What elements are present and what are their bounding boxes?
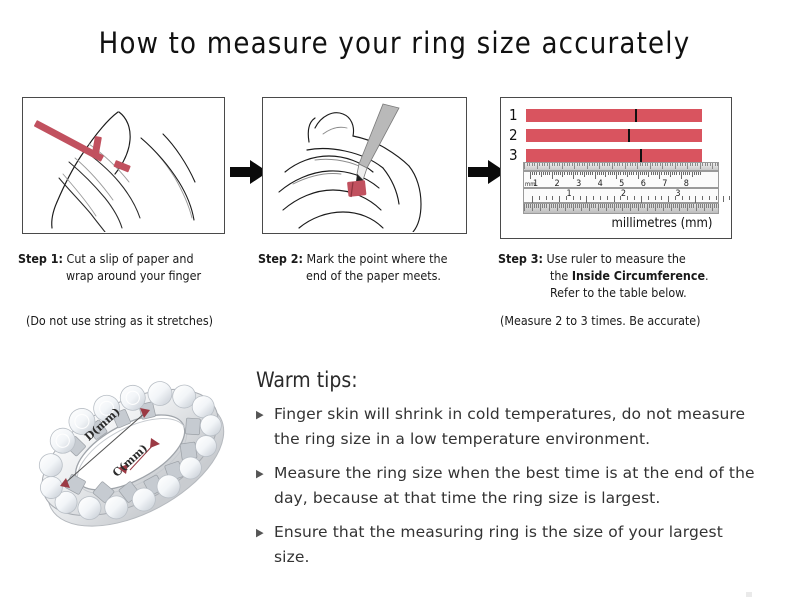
hand-with-paper-strip-drawing: [23, 98, 223, 232]
ruler-unit-caption: millimetres (mm): [597, 216, 727, 231]
bullet-triangle-icon: ▶: [256, 402, 274, 427]
step-1-line-2: wrap around your finger: [18, 267, 258, 284]
warm-tip-text: Ensure that the measuring ring is the si…: [274, 520, 756, 570]
step-2-caption: Step 2: Mark the point where the end of …: [258, 250, 498, 284]
list-item: ▶ Ensure that the measuring ring is the …: [256, 520, 756, 570]
step-1-note: (Do not use string as it stretches): [26, 313, 213, 328]
step-3-line-2-prefix: the: [550, 268, 572, 283]
list-item: ▶ Measure the ring size when the best ti…: [256, 461, 756, 511]
strip-number: 2: [509, 126, 526, 144]
step-3-line-3: Refer to the table below.: [498, 284, 748, 301]
inside-circumference-emphasis: Inside Circumference: [572, 268, 705, 283]
measured-strip-row: 2: [509, 126, 702, 144]
hand-marking-paper-drawing: [263, 98, 465, 232]
warm-tips-list: ▶ Finger skin will shrink in cold temper…: [256, 402, 756, 579]
step-2-line-2: end of the paper meets.: [258, 267, 498, 284]
ruler-inch-tick-label: 1: [566, 189, 571, 199]
ruler-inch-tick-label: 3: [675, 189, 680, 199]
step-3-line-2: the Inside Circumference.: [498, 267, 748, 284]
ruler-mm-unit-mark: mm: [525, 181, 536, 188]
step-2-illustration-panel: [262, 97, 467, 234]
step-2-label: Step 2:: [258, 251, 303, 266]
step-3-caption: Step 3: Use ruler to measure the the Ins…: [498, 250, 748, 301]
step-1-line-1: Cut a slip of paper and: [67, 251, 194, 266]
bullet-triangle-icon: ▶: [256, 461, 274, 486]
step-3-line-2-suffix: .: [705, 268, 709, 283]
ruler-graphic: 12345678mm 123: [523, 162, 719, 214]
step-1-illustration-panel: [22, 97, 225, 234]
step-1-label: Step 1:: [18, 251, 63, 266]
scan-artifact: [746, 592, 752, 597]
page-title: How to measure your ring size accurately: [0, 26, 789, 60]
ruler-inch-tick-label: 2: [621, 189, 626, 199]
step-1-caption: Step 1: Cut a slip of paper and wrap aro…: [18, 250, 258, 284]
ruler-cm-scale: 12345678mm: [523, 171, 719, 188]
strip-bar: [526, 129, 702, 142]
strip-tick-mark: [640, 149, 642, 162]
step-3-measurement-panel: 1 2 3 12345678mm 123 millimetres (mm): [500, 97, 732, 239]
ruler-inch-scale: 123: [523, 188, 719, 203]
warm-tips-heading: Warm tips:: [256, 368, 358, 392]
strip-number: 1: [509, 106, 526, 124]
strip-bar: [526, 109, 702, 122]
ring-diagram: D(mm) C(mm): [18, 352, 246, 567]
step-3-note: (Measure 2 to 3 times. Be accurate): [500, 313, 701, 328]
bullet-triangle-icon: ▶: [256, 520, 274, 545]
measured-strip-row: 1: [509, 106, 702, 124]
strip-tick-mark: [635, 109, 637, 122]
strip-tick-mark: [628, 129, 630, 142]
warm-tip-text: Measure the ring size when the best time…: [274, 461, 756, 511]
list-item: ▶ Finger skin will shrink in cold temper…: [256, 402, 756, 452]
ruler-bottom-edge: [523, 203, 719, 214]
warm-tip-text: Finger skin will shrink in cold temperat…: [274, 402, 756, 452]
step-3-label: Step 3:: [498, 251, 543, 266]
step-2-line-1: Mark the point where the: [307, 251, 448, 266]
ring-size-guide-infographic: How to measure your ring size accurately: [0, 0, 789, 606]
ruler-top-edge: [523, 162, 719, 171]
strip-bar: [526, 149, 702, 162]
step-3-line-1: Use ruler to measure the: [547, 251, 686, 266]
